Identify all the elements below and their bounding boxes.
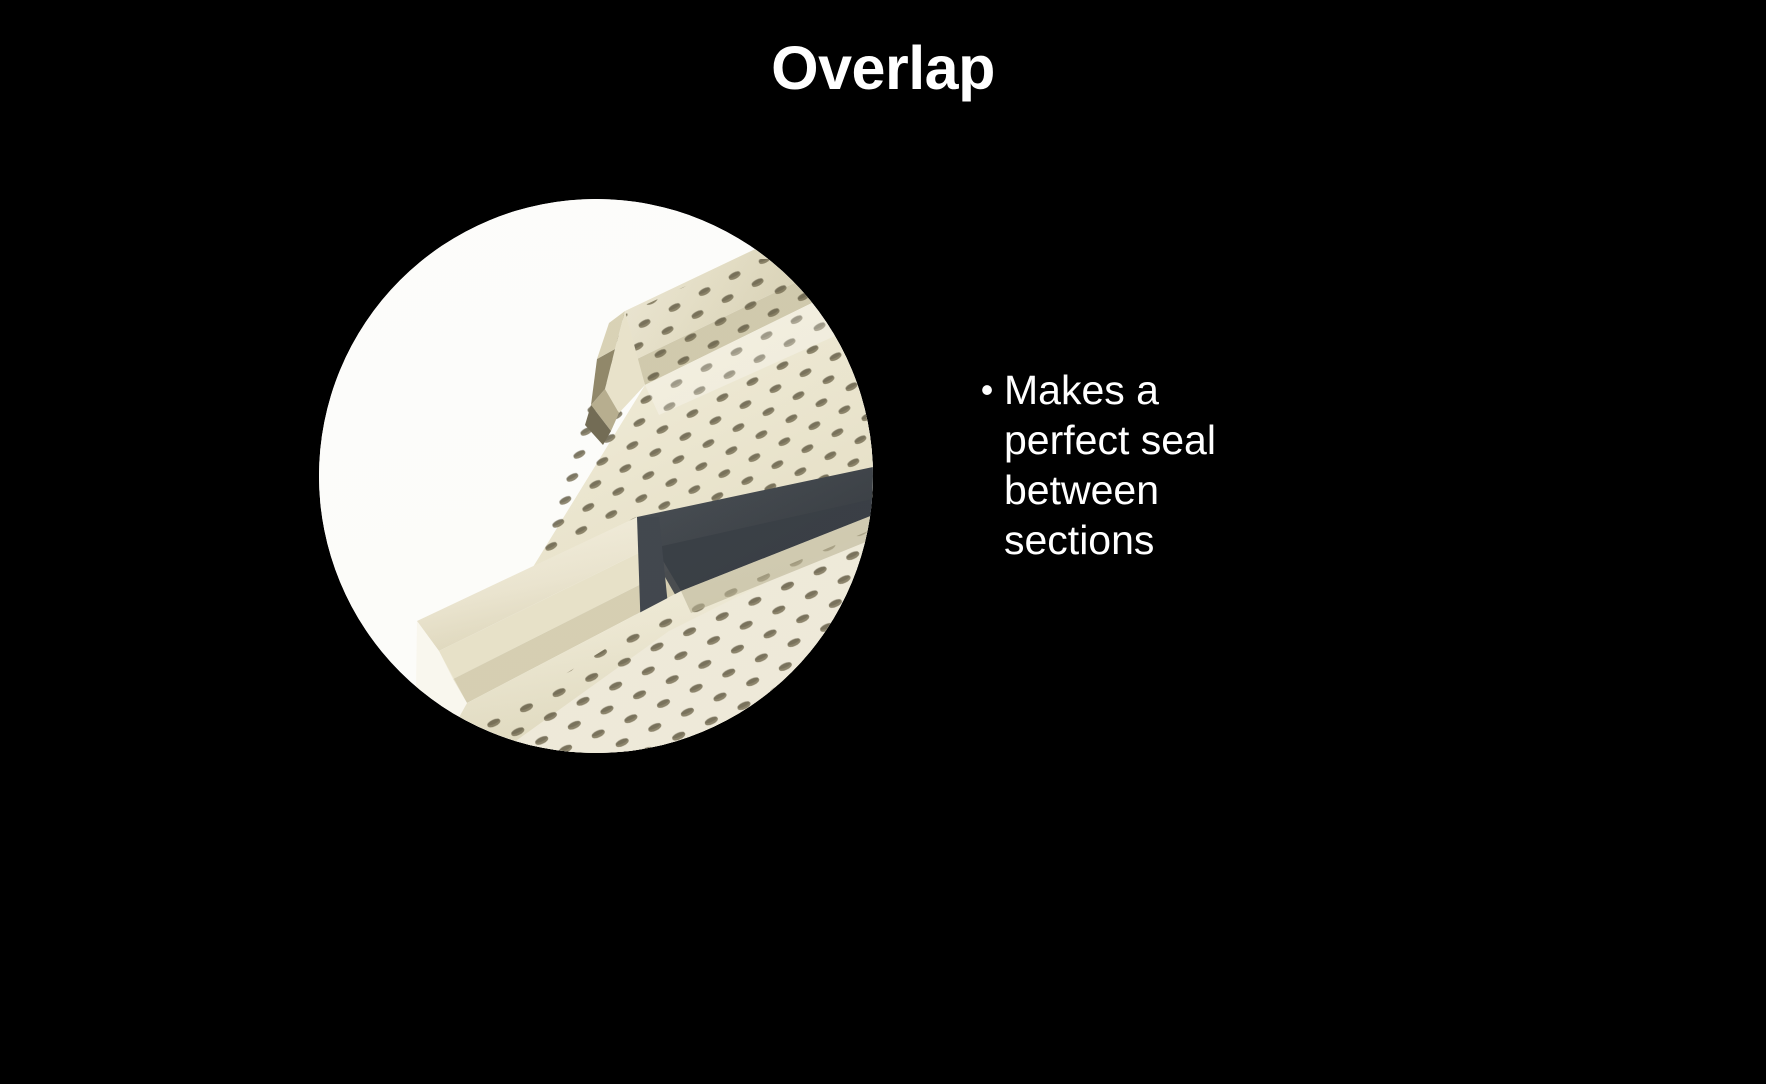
overlap-joint-photo — [319, 199, 873, 753]
bullet-text: Makes a perfect seal between sections — [1004, 365, 1216, 565]
slide-root: Overlap — [0, 0, 1766, 1084]
page-title: Overlap — [0, 36, 1766, 100]
bullet-list: • Makes a perfect seal between sections — [980, 365, 1310, 565]
overlap-joint-illustration — [319, 199, 873, 753]
list-item: • Makes a perfect seal between sections — [980, 365, 1310, 565]
bullet-dot-icon: • — [980, 365, 994, 415]
